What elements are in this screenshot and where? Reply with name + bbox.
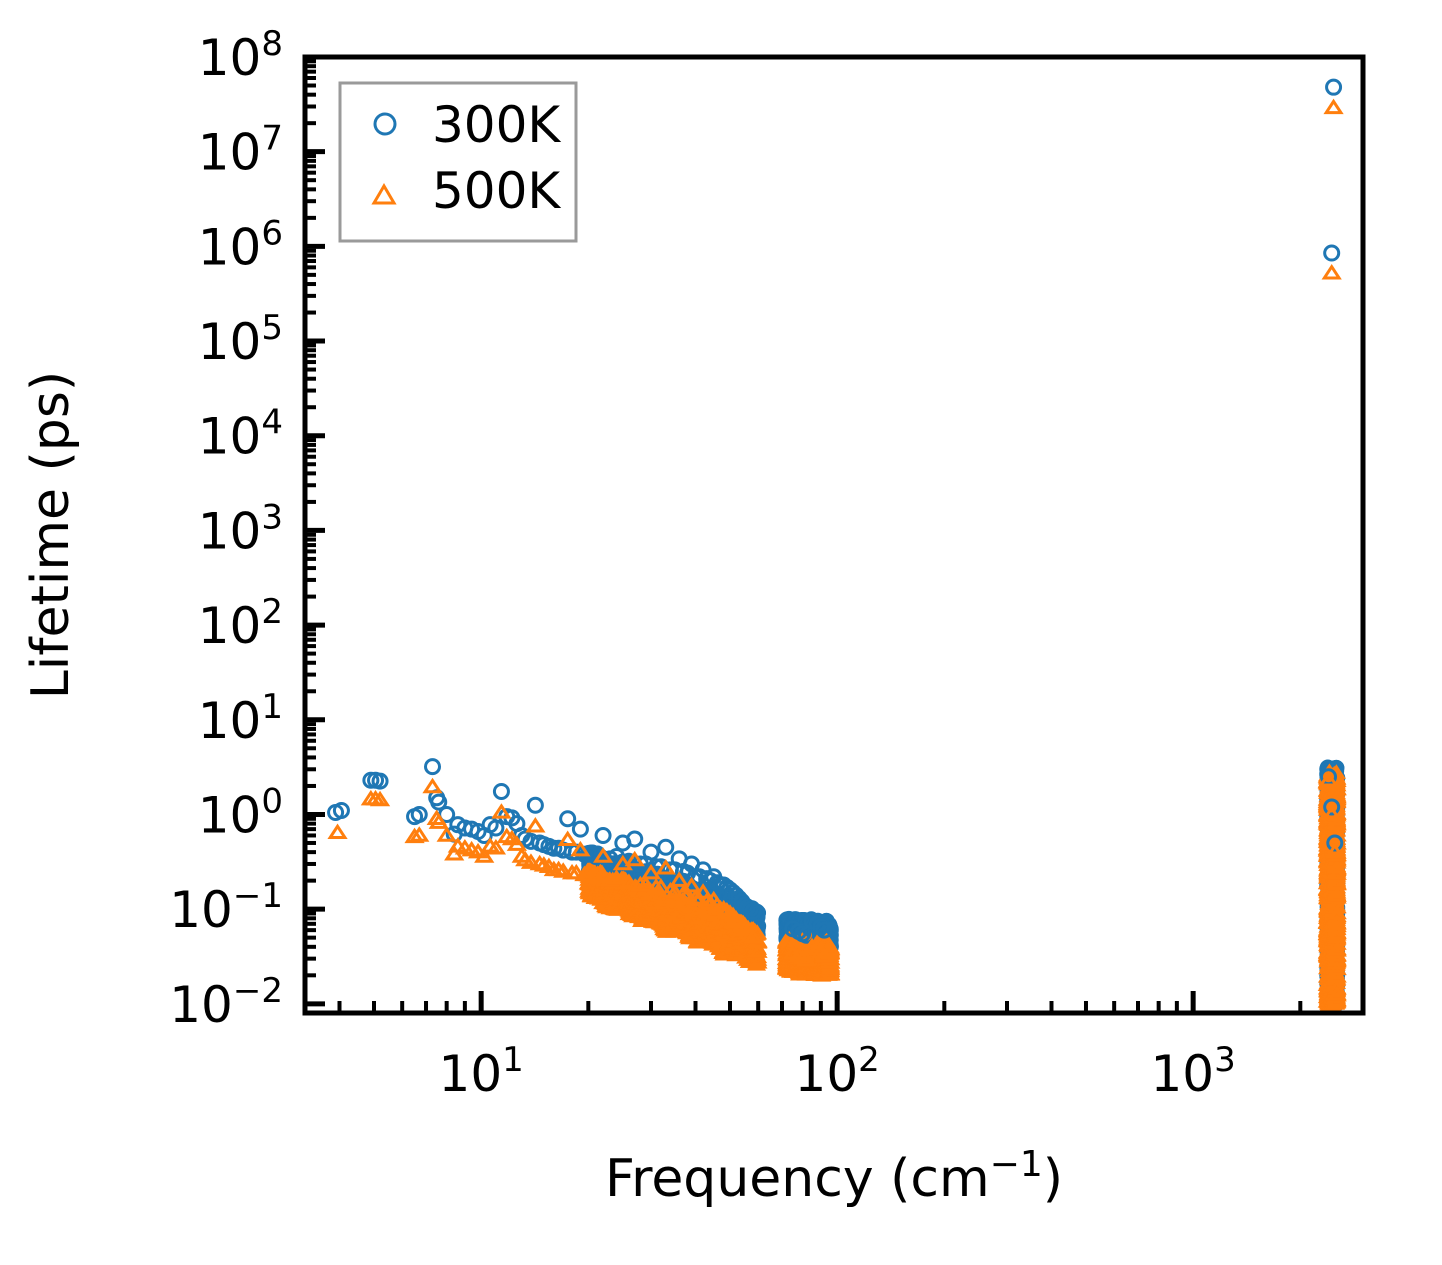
chart-figure: 10−210−110010110210310410510610710810110…: [0, 0, 1442, 1265]
scatter-plot: 10−210−110010110210310410510610710810110…: [0, 0, 1442, 1265]
